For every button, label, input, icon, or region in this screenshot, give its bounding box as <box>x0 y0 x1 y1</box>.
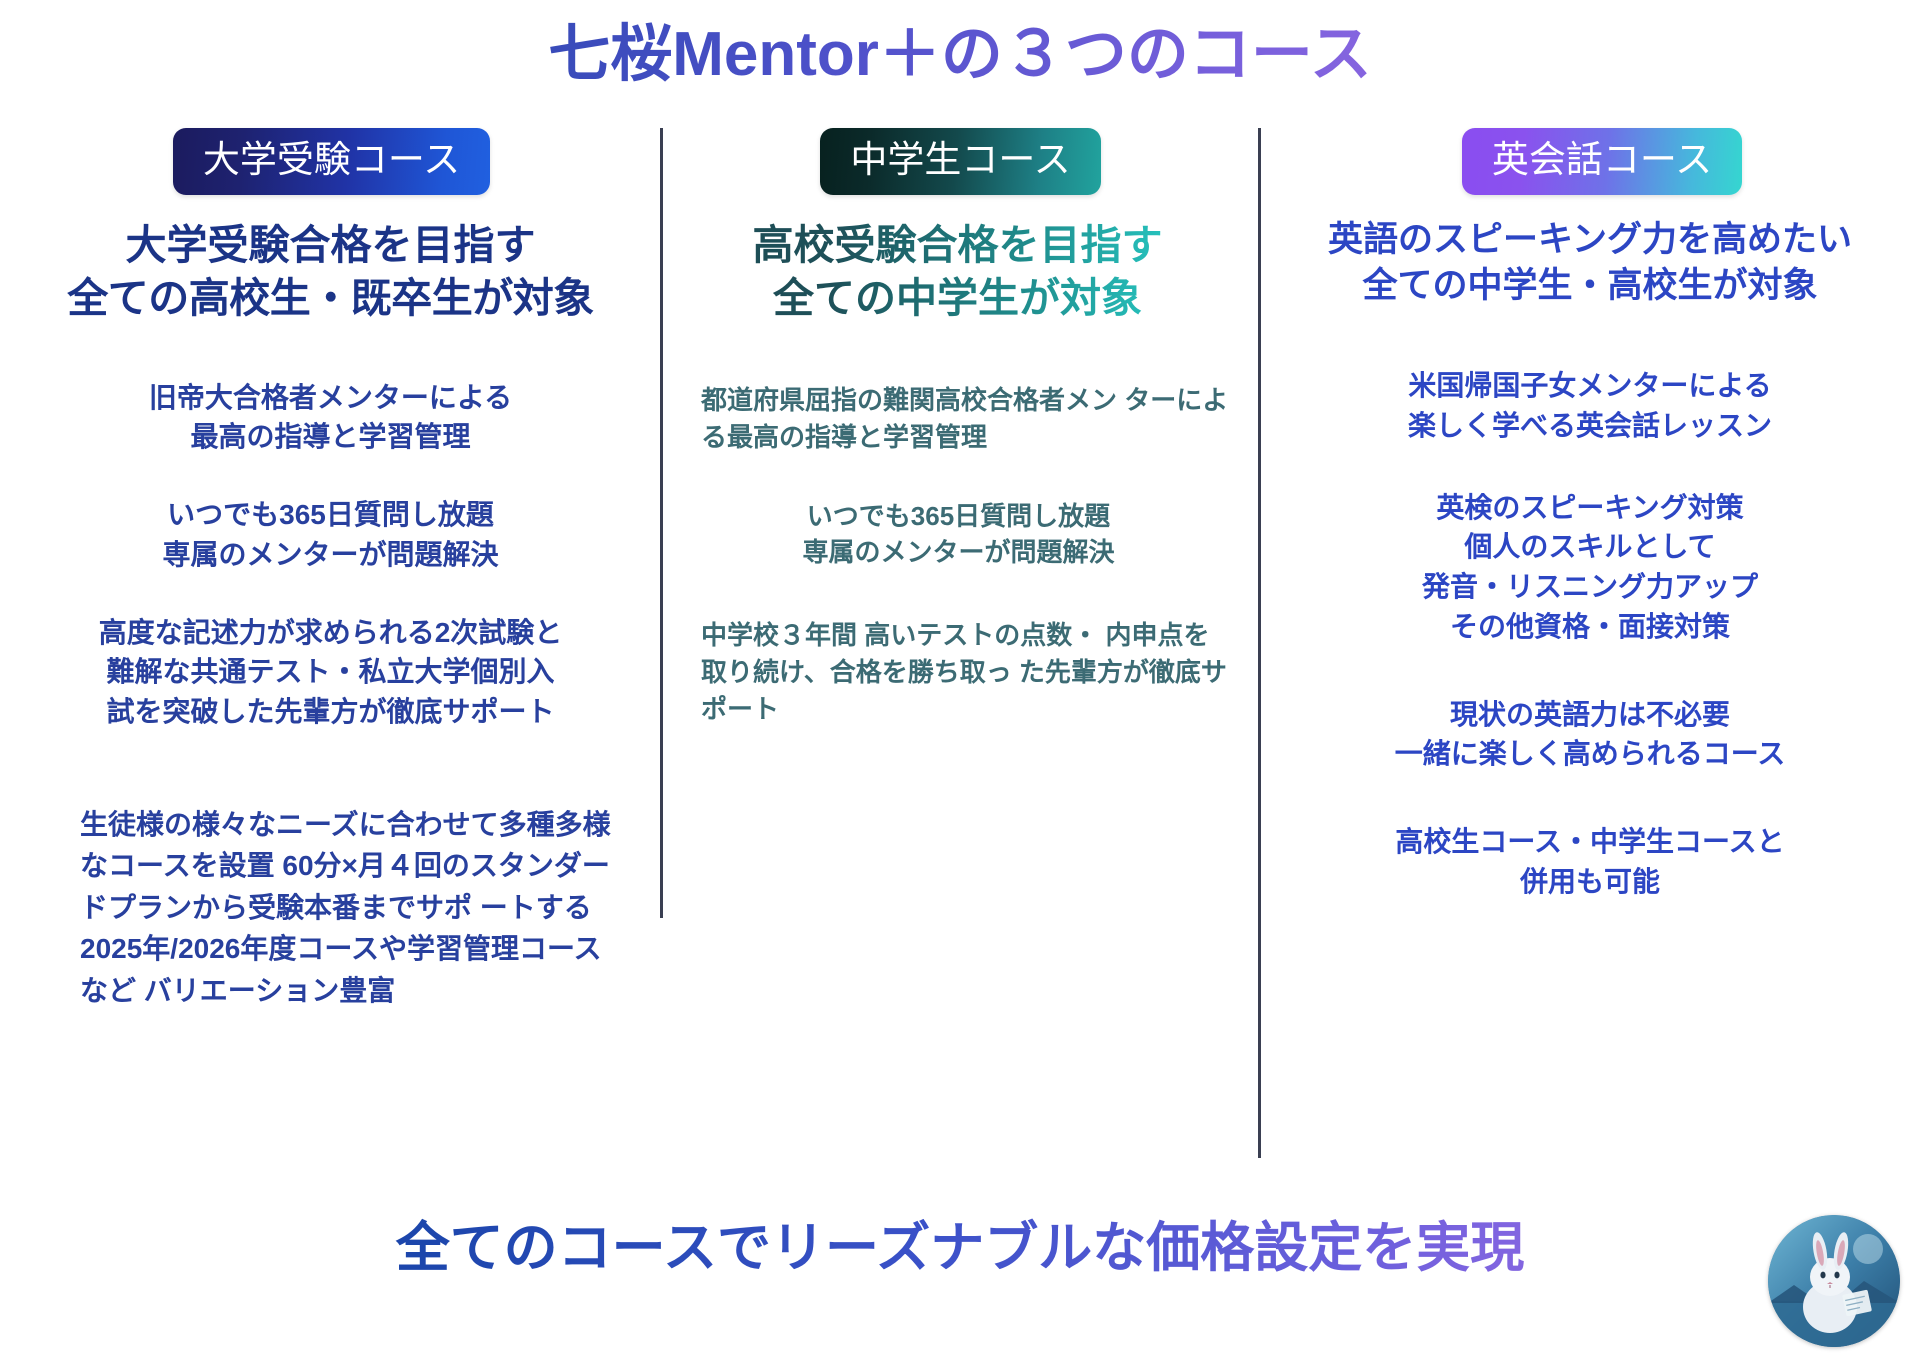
feature-item: 現状の英語力は不必要 一緒に楽しく高められるコース <box>1250 695 1920 775</box>
course-badge-juniorhigh[interactable]: 中学生コース <box>820 128 1100 195</box>
headline-university: 大学受験合格を目指す 全ての高校生・既卒生が対象 <box>0 219 655 326</box>
feature-item: 高度な記述力が求められる2次試験と 難解な共通テスト・私立大学個別入 試を突破し… <box>0 613 655 732</box>
headline-juniorhigh-line1: 高校受験合格を目指す <box>665 219 1250 272</box>
headline-juniorhigh: 高校受験合格を目指す 全ての中学生が対象 <box>655 219 1250 326</box>
feature-item: いつでも365日質問し放題 専属のメンターが問題解決 <box>655 498 1250 572</box>
headline-english-line1: 英語のスピーキング力を高めたい <box>1260 217 1920 263</box>
badge-container-university: 大学受験コース <box>0 128 655 195</box>
feature-item: 高校生コース・中学生コースと 併用も可能 <box>1250 822 1920 902</box>
feature-list-university: 旧帝大合格者メンターによる 最高の指導と学習管理 いつでも365日質問し放題 専… <box>0 378 655 1011</box>
course-column-juniorhigh: 中学生コース 高校受験合格を目指す 全ての中学生が対象 都道府県屈指の難関高校合… <box>655 128 1250 1188</box>
infographic-page: 七桜Mentor＋の３つのコース 大学受験コース 大学受験合格を目指す 全ての高… <box>0 0 1920 1357</box>
headline-juniorhigh-line2: 全ての中学生が対象 <box>665 272 1250 325</box>
headline-english: 英語のスピーキング力を高めたい 全ての中学生・高校生が対象 <box>1250 217 1920 308</box>
feature-item: 米国帰国子女メンターによる 楽しく学べる英会話レッスン <box>1250 366 1920 446</box>
feature-item: 中学校３年間 高いテストの点数・ 内申点を取り続け、合格を勝ち取っ た先輩方が徹… <box>655 617 1250 728</box>
course-columns: 大学受験コース 大学受験合格を目指す 全ての高校生・既卒生が対象 旧帝大合格者メ… <box>0 128 1920 1188</box>
footer-tagline: 全てのコースでリーズナブルな価格設定を実現 <box>0 1216 1920 1281</box>
page-title: 七桜Mentor＋の３つのコース <box>0 18 1920 91</box>
badge-container-juniorhigh: 中学生コース <box>655 128 1250 195</box>
badge-container-english: 英会話コース <box>1250 128 1920 195</box>
feature-item: いつでも365日質問し放題 専属のメンターが問題解決 <box>0 495 655 575</box>
course-badge-english[interactable]: 英会話コース <box>1462 128 1742 195</box>
rabbit-logo <box>1768 1215 1900 1347</box>
headline-university-line2: 全ての高校生・既卒生が対象 <box>6 272 655 325</box>
feature-item: 旧帝大合格者メンターによる 最高の指導と学習管理 <box>0 378 655 458</box>
feature-item: 都道府県屈指の難関高校合格者メン ターによる最高の指導と学習管理 <box>655 382 1250 456</box>
headline-university-line1: 大学受験合格を目指す <box>6 219 655 272</box>
feature-list-juniorhigh: 都道府県屈指の難関高校合格者メン ターによる最高の指導と学習管理 いつでも365… <box>655 382 1250 728</box>
footer-paragraph-university: 生徒様の様々なニーズに合わせて多種多様なコースを設置 60分×月４回のスタンダー… <box>0 804 655 1011</box>
course-column-university: 大学受験コース 大学受験合格を目指す 全ての高校生・既卒生が対象 旧帝大合格者メ… <box>0 128 655 1188</box>
feature-item: 英検のスピーキング対策 個人のスキルとして 発音・リスニング力アップ その他資格… <box>1250 488 1920 647</box>
headline-english-line2: 全ての中学生・高校生が対象 <box>1260 263 1920 309</box>
course-badge-university[interactable]: 大学受験コース <box>173 128 490 195</box>
feature-list-english: 米国帰国子女メンターによる 楽しく学べる英会話レッスン 英検のスピーキング対策 … <box>1250 366 1920 902</box>
course-column-english: 英会話コース 英語のスピーキング力を高めたい 全ての中学生・高校生が対象 米国帰… <box>1250 128 1920 1188</box>
